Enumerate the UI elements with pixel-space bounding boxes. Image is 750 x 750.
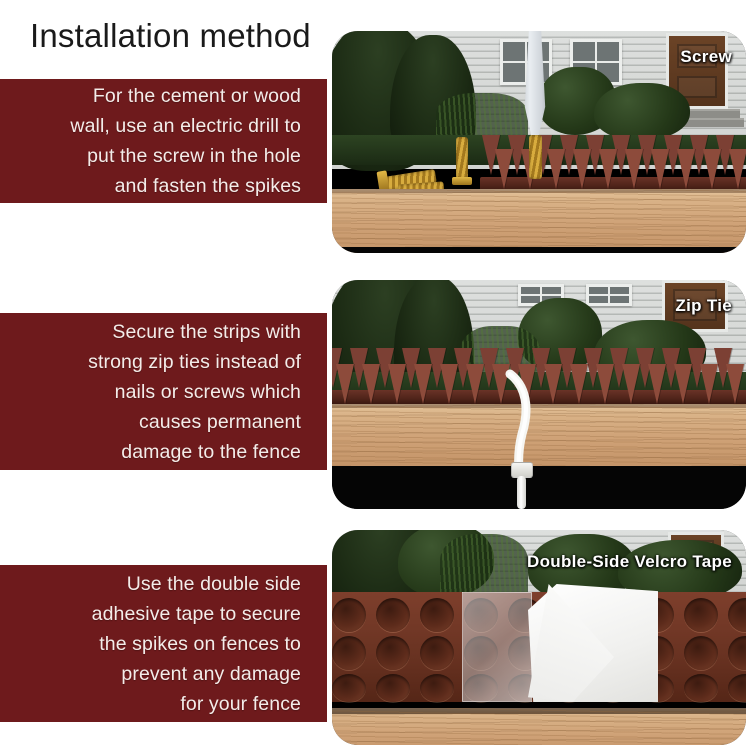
backplate-hole [684,598,718,632]
spike [599,149,617,189]
spike [648,364,666,404]
caption-zip-tie: Zip Tie [675,296,732,316]
backplate-hole [684,636,718,670]
spike [596,364,614,404]
backplate-hole [728,636,746,670]
spike [726,364,744,404]
driven-screw [529,135,542,179]
page-title: Installation method [30,14,311,58]
caption-velcro-tape: Double-Side Velcro Tape [527,552,732,572]
spike [570,364,588,404]
spike [362,364,380,404]
spike [703,149,721,189]
screw-head [452,177,472,185]
clear-adhesive-tape [462,592,532,702]
spike [440,364,458,404]
backplate-hole [376,674,410,702]
spike [414,364,432,404]
spike [336,364,354,404]
photo-panel-zip-tie: Zip Tie [332,280,746,509]
step-text-velcro-tape: Use the double side adhesive tape to sec… [92,569,301,719]
step-banner-screw: For the cement or wood wall, use an elec… [0,79,327,203]
spike [547,149,565,189]
step-text-screw: For the cement or wood wall, use an elec… [70,81,301,201]
backplate-hole [728,674,746,702]
spike [729,149,746,189]
spike [677,149,695,189]
backplate-hole [684,674,718,702]
wood-beam [332,189,746,253]
spike [573,149,591,189]
wood-grain [332,189,746,253]
spike [651,149,669,189]
shrub [594,83,690,141]
zip-tie-strap-icon [492,372,552,472]
backplate-hole [332,674,366,702]
backplate-hole [420,598,454,632]
backplate-hole [420,636,454,670]
zip-tie-tail [517,476,526,509]
photo-panel-velcro-tape: Double-Side Velcro Tape [332,530,746,745]
spike [625,149,643,189]
backplate-hole [728,598,746,632]
wood-beam [332,708,746,745]
ornamental-grass [440,534,528,600]
backplate-hole [332,636,366,670]
step-banner-velcro-tape: Use the double side adhesive tape to sec… [0,565,327,722]
loose-screw [456,137,468,179]
wood-grain [332,708,746,745]
shadow-under-beam [332,247,746,253]
spike [466,364,484,404]
photo-panel-screw: Screw [332,31,746,253]
step-banner-zip-tie: Secure the strips with strong zip ties i… [0,313,327,470]
house-window [500,39,552,85]
backplate-hole [332,598,366,632]
house-window [586,284,632,306]
backplate-hole [376,636,410,670]
backplate-hole [420,674,454,702]
caption-screw: Screw [680,47,732,67]
spike [495,149,513,189]
spike [388,364,406,404]
backplate-hole [376,598,410,632]
spike [674,364,692,404]
spike [622,364,640,404]
infographic-page: Installation method [0,0,750,750]
spike [700,364,718,404]
step-text-zip-tie: Secure the strips with strong zip ties i… [88,317,301,467]
shadow-under-beam [332,466,746,509]
